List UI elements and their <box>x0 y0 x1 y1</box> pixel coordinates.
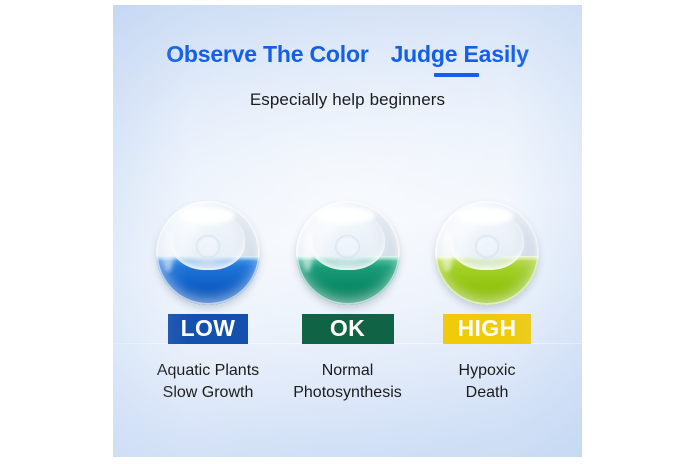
headline: Observe The ColorJudge Easily <box>113 41 582 68</box>
test-sphere-ok <box>296 201 400 305</box>
sphere-rim-low <box>156 201 260 305</box>
status-badge-low: LOW <box>168 314 248 344</box>
sphere-rim-ok <box>296 201 400 305</box>
test-sphere-high <box>435 201 539 305</box>
sphere-rim-high <box>435 201 539 305</box>
caption-high-line1: Hypoxic <box>459 360 516 382</box>
caption-low: Aquatic Plants Slow Growth <box>157 360 259 403</box>
caption-ok-line1: Normal <box>293 360 402 382</box>
headline-part-1: Observe The Color <box>166 41 368 68</box>
status-badge-ok: OK <box>302 314 394 344</box>
caption-low-line1: Aquatic Plants <box>157 360 259 382</box>
caption-low-line2: Slow Growth <box>157 382 259 404</box>
headline-part-2: Judge Easily <box>391 41 529 68</box>
column-high: HIGH Hypoxic Death <box>420 201 554 404</box>
caption-ok: Normal Photosynthesis <box>293 360 402 403</box>
comparison-columns: LOW Aquatic Plants Slow Growth OK <box>113 201 582 404</box>
caption-high: Hypoxic Death <box>459 360 516 403</box>
status-badge-high: HIGH <box>443 314 531 344</box>
column-low: LOW Aquatic Plants Slow Growth <box>141 201 275 404</box>
column-ok: OK Normal Photosynthesis <box>281 201 415 404</box>
headline-underline <box>434 73 479 77</box>
image-canvas: Observe The ColorJudge Easily Especially… <box>0 0 695 464</box>
caption-ok-line2: Photosynthesis <box>293 382 402 404</box>
test-sphere-low <box>156 201 260 305</box>
subtitle: Especially help beginners <box>113 90 582 110</box>
content-panel: Observe The ColorJudge Easily Especially… <box>113 5 582 457</box>
caption-high-line2: Death <box>459 382 516 404</box>
